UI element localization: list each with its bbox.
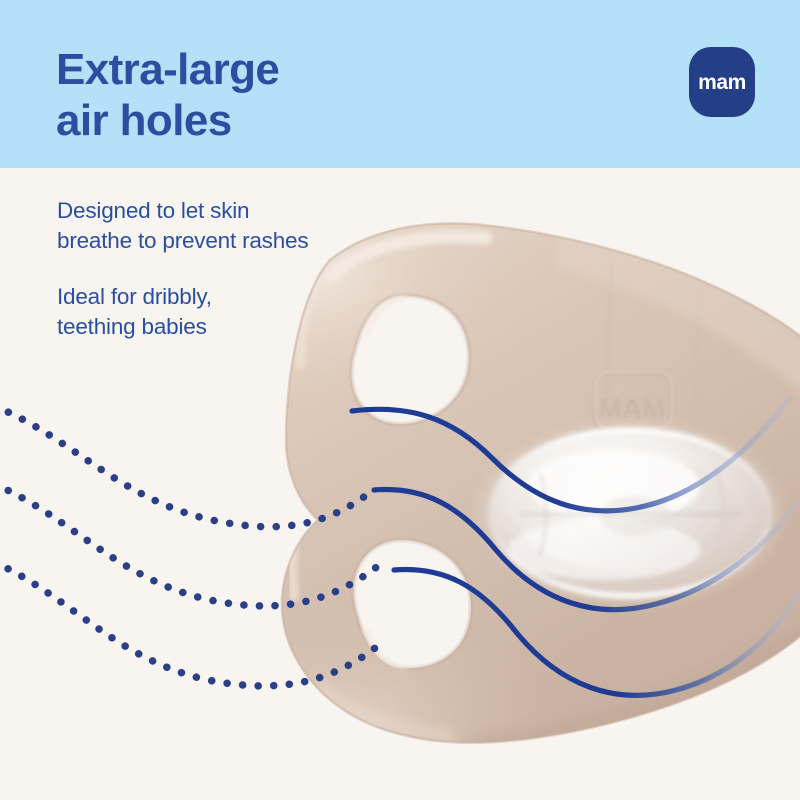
benefit-line-1: Designed to let skin breathe to prevent …	[57, 196, 387, 256]
mam-logo: mam	[689, 47, 755, 117]
header-band: Extra-large air holes mam	[0, 0, 800, 168]
mam-logo-text: mam	[698, 72, 746, 93]
svg-text:MAM: MAM	[599, 393, 666, 424]
product-feature-infographic: MAM	[0, 0, 800, 800]
benefit-text-block: Designed to let skin breathe to prevent …	[57, 196, 387, 342]
benefit-line-2: Ideal for dribbly, teething babies	[57, 282, 387, 342]
page-title: Extra-large air holes	[56, 44, 279, 147]
